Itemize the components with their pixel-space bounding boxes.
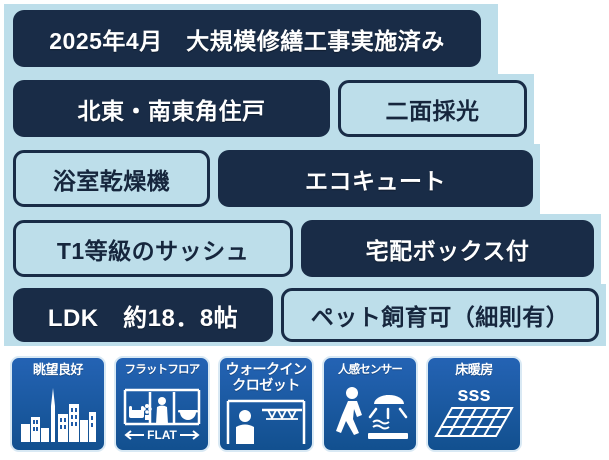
icon-badge-good-view[interactable]: 眺望良好 bbox=[10, 356, 106, 452]
feature-pill-ldk-size[interactable]: LDK 約18．8帖 bbox=[13, 288, 273, 342]
icon-badge-label-line1: ウォークイン bbox=[220, 361, 312, 377]
flat-caption: FLAT bbox=[147, 428, 177, 442]
icon-badge-label: 床暖房 bbox=[428, 363, 520, 377]
feature-pill-bathroom-dryer[interactable]: 浴室乾燥機 bbox=[13, 150, 210, 207]
feature-pill-t1-sash[interactable]: T1等級のサッシュ bbox=[13, 220, 293, 277]
icon-badge-floor-heating[interactable]: 床暖房 sss bbox=[426, 356, 522, 452]
icon-badge-label-line2: クロゼット bbox=[220, 377, 312, 393]
icon-badge-label: ウォークイン クロゼット bbox=[220, 361, 312, 393]
feature-pill-delivery-box[interactable]: 宅配ボックス付 bbox=[301, 220, 594, 277]
feature-pill-renovation[interactable]: 2025年4月 大規模修繕工事実施済み bbox=[13, 10, 481, 67]
icon-badge-label: フラットフロア bbox=[116, 363, 208, 377]
feature-badge-graphic: 2025年4月 大規模修繕工事実施済み 北東・南東角住戸 二面採光 浴室乾燥機 … bbox=[0, 0, 609, 460]
svg-text:sss: sss bbox=[457, 384, 490, 406]
floor-heating-icon: sss bbox=[428, 384, 520, 446]
icon-badge-label: 眺望良好 bbox=[12, 363, 104, 377]
feature-pill-two-sided-lighting[interactable]: 二面採光 bbox=[338, 80, 527, 137]
motion-sensor-icon bbox=[324, 384, 416, 446]
feature-pill-corner-unit[interactable]: 北東・南東角住戸 bbox=[13, 80, 330, 137]
flat-floor-icon: FLAT bbox=[116, 384, 208, 446]
icon-badge-motion-sensor[interactable]: 人感センサー bbox=[322, 356, 418, 452]
city-skyline-icon bbox=[12, 384, 104, 446]
icon-badge-walk-in-closet[interactable]: ウォークイン クロゼット bbox=[218, 356, 314, 452]
icon-badge-label: 人感センサー bbox=[324, 363, 416, 377]
walk-in-closet-icon bbox=[220, 396, 312, 448]
feature-pill-pets-allowed[interactable]: ペット飼育可（細則有） bbox=[281, 288, 599, 342]
feature-pill-ecocute[interactable]: エコキュート bbox=[218, 150, 533, 207]
icon-badge-flat-floor[interactable]: フラットフロア bbox=[114, 356, 210, 452]
